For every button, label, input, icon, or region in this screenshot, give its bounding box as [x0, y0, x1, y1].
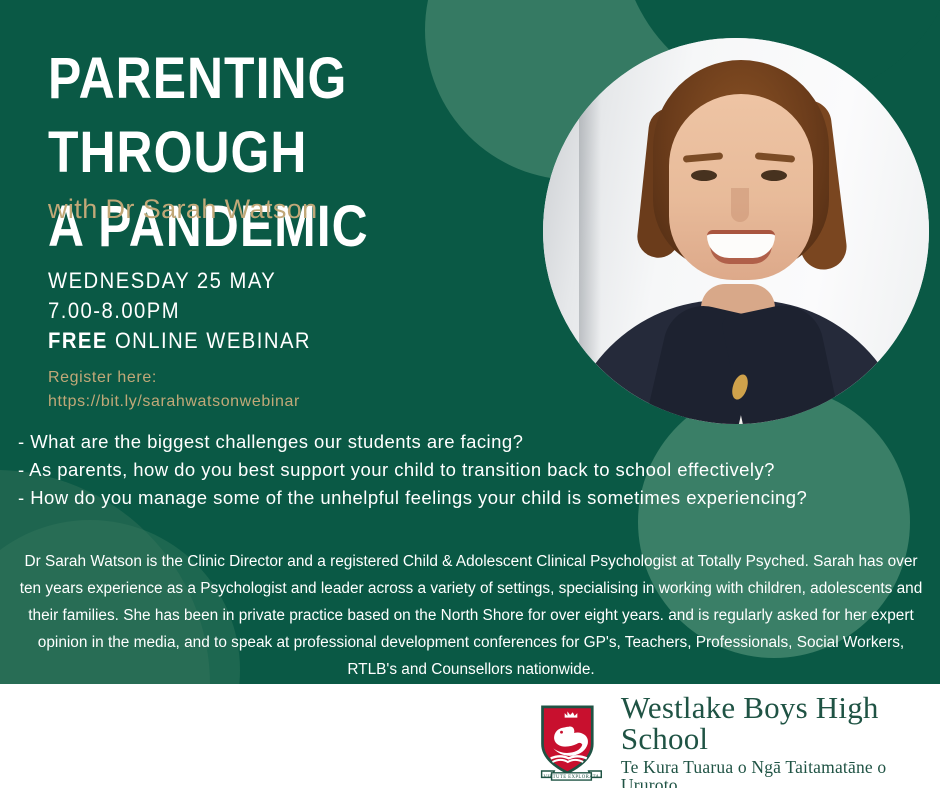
question-item: - How do you manage some of the unhelpfu… — [18, 484, 930, 512]
question-item: - What are the biggest challenges our st… — [18, 428, 930, 456]
event-details: WEDNESDAY 25 MAY 7.00-8.00PM FREE ONLINE… — [48, 266, 311, 356]
event-format-free: FREE — [48, 328, 108, 353]
svg-text:VIRTUTE EXPLORATA: VIRTUTE EXPLORATA — [543, 775, 599, 780]
event-time: 7.00-8.00PM — [48, 296, 311, 326]
portrait-eye-left — [691, 170, 717, 181]
school-crest-icon: VIRTUTE EXPLORATA — [538, 700, 605, 786]
portrait-eye-right — [761, 170, 787, 181]
page-title: PARENTING THROUGH A PANDEMIC — [48, 42, 530, 264]
event-date: WEDNESDAY 25 MAY — [48, 266, 311, 296]
presenter-bio: Dr Sarah Watson is the Clinic Director a… — [18, 548, 924, 683]
school-name-maori: Te Kura Tuarua o Ngā Taitamatāne o Ururo… — [621, 759, 940, 788]
register-label: Register here: — [48, 366, 300, 390]
portrait-nose — [731, 188, 749, 222]
portrait-mouth — [707, 230, 775, 258]
register-url[interactable]: https://bit.ly/sarahwatsonwebinar — [48, 390, 300, 414]
school-name: Westlake Boys High School — [621, 692, 940, 754]
school-text-block: Westlake Boys High School Te Kura Tuarua… — [621, 692, 940, 788]
poster-footer: VIRTUTE EXPLORATA Westlake Boys High Sch… — [0, 684, 940, 788]
question-list: - What are the biggest challenges our st… — [18, 428, 930, 512]
school-logo-lockup: VIRTUTE EXPLORATA Westlake Boys High Sch… — [538, 692, 940, 788]
registration-block: Register here: https://bit.ly/sarahwatso… — [48, 366, 300, 414]
event-format: FREE ONLINE WEBINAR — [48, 326, 311, 356]
presenter-subtitle: with Dr Sarah Watson — [48, 194, 318, 225]
question-item: - As parents, how do you best support yo… — [18, 456, 930, 484]
webinar-poster: PARENTING THROUGH A PANDEMIC with Dr Sar… — [0, 0, 940, 788]
presenter-portrait — [543, 38, 929, 424]
event-format-rest: ONLINE WEBINAR — [108, 328, 311, 353]
